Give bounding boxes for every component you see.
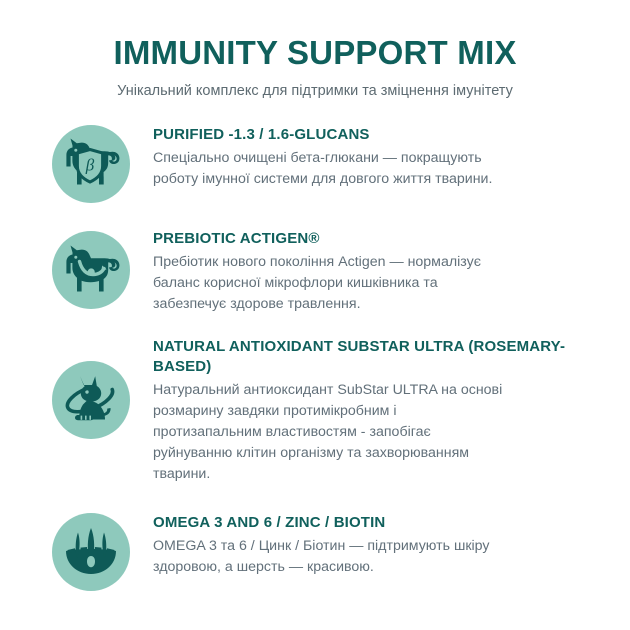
page-title: IMMUNITY SUPPORT MIX <box>20 34 610 72</box>
hair-follicle-skin-icon <box>52 513 130 591</box>
infographic-page: IMMUNITY SUPPORT MIX Унікальний комплекс… <box>0 0 630 630</box>
feature-item: β PURIFIED -1.3 / 1.6-GLUCANS Спеціально… <box>52 123 618 203</box>
page-subtitle: Унікальний комплекс для підтримки та змі… <box>20 81 610 101</box>
feature-body: Пребіотик нового покоління Actigen — нор… <box>153 252 618 315</box>
header: IMMUNITY SUPPORT MIX Унікальний комплекс… <box>0 0 630 101</box>
feature-body: Натуральний антиоксидант SubStar ULTRA н… <box>153 380 618 485</box>
feature-body: OMEGA 3 та 6 / Цинк / Біотин — підтримую… <box>153 536 618 578</box>
feature-item: NATURAL ANTIOXIDANT SUBSTAR ULTRA (ROSEM… <box>52 335 618 485</box>
feature-text: OMEGA 3 AND 6 / ZINC / BIOTIN OMEGA 3 та… <box>130 511 618 578</box>
feature-text: PREBIOTIC ACTIGEN® Пребіотик нового поко… <box>130 227 618 315</box>
feature-heading: PURIFIED -1.3 / 1.6-GLUCANS <box>153 125 618 145</box>
feature-text: NATURAL ANTIOXIDANT SUBSTAR ULTRA (ROSEM… <box>130 335 618 485</box>
feature-heading: OMEGA 3 AND 6 / ZINC / BIOTIN <box>153 513 618 533</box>
dog-shield-beta-icon: β <box>52 125 130 203</box>
feature-item: PREBIOTIC ACTIGEN® Пребіотик нового поко… <box>52 227 618 315</box>
svg-text:β: β <box>85 156 95 175</box>
feature-list: β PURIFIED -1.3 / 1.6-GLUCANS Спеціально… <box>0 123 630 591</box>
dog-digestion-icon <box>52 231 130 309</box>
feature-body: Спеціально очищені бета-глюкани — покращ… <box>153 148 618 190</box>
feature-text: PURIFIED -1.3 / 1.6-GLUCANS Спеціально о… <box>130 123 618 190</box>
cat-orbit-shield-icon <box>52 361 130 439</box>
feature-heading: PREBIOTIC ACTIGEN® <box>153 229 618 249</box>
feature-item: OMEGA 3 AND 6 / ZINC / BIOTIN OMEGA 3 та… <box>52 511 618 591</box>
feature-heading: NATURAL ANTIOXIDANT SUBSTAR ULTRA (ROSEM… <box>153 337 618 377</box>
